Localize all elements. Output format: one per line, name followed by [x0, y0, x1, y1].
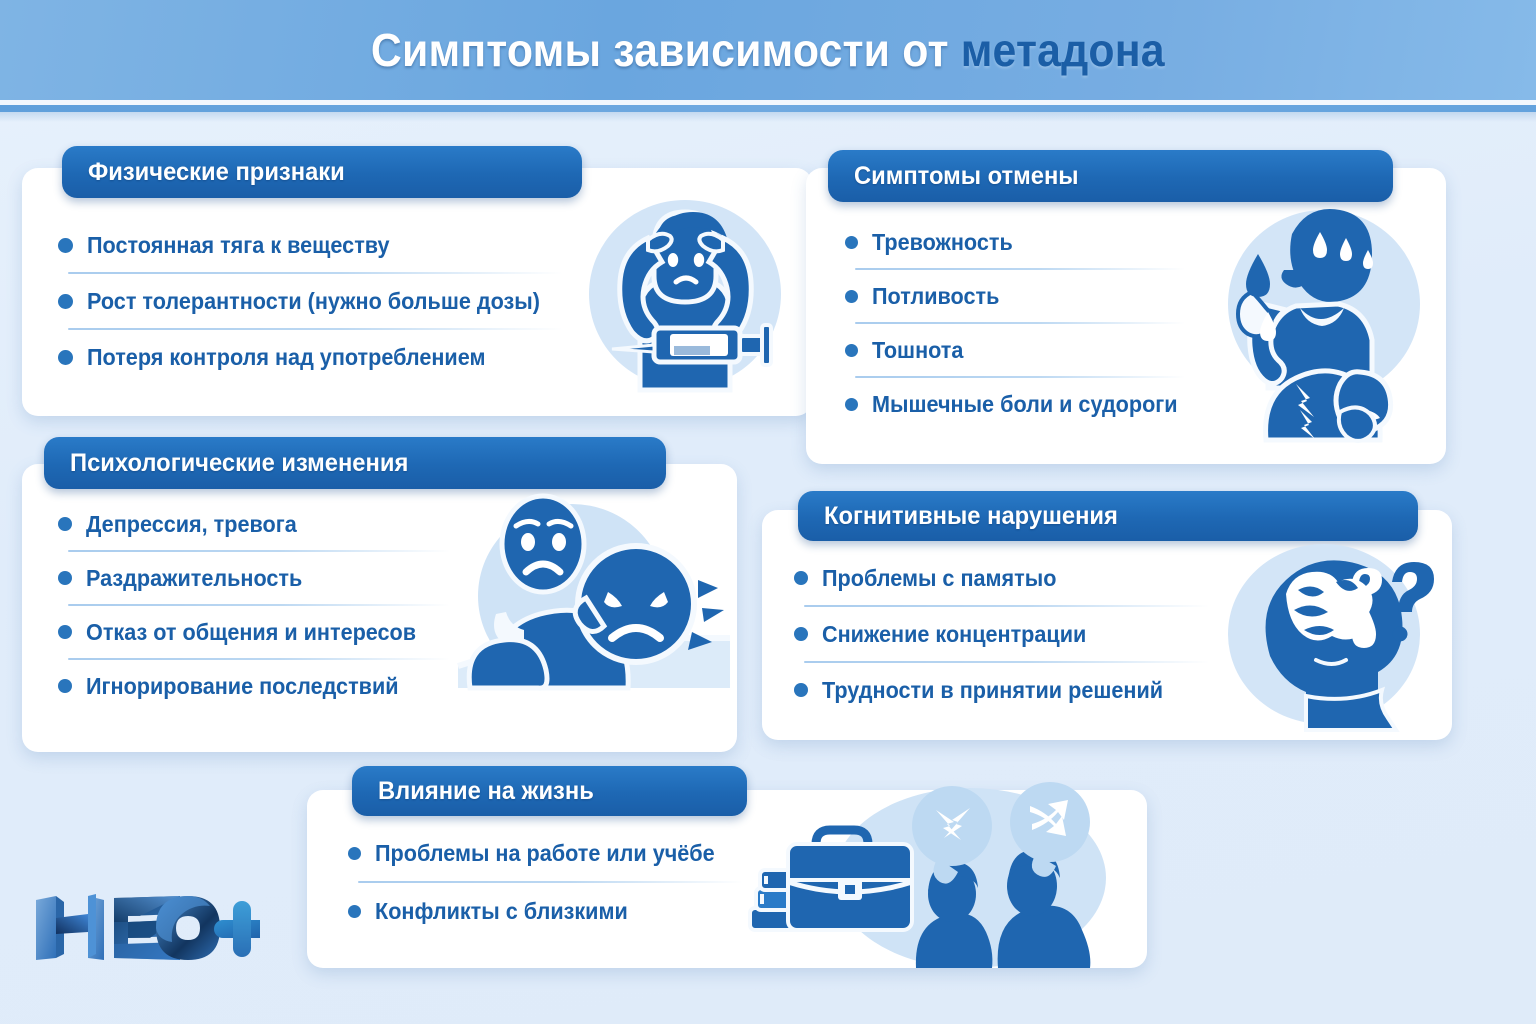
list-divider: [358, 881, 743, 883]
card-withdrawal-symptoms-badge: Симптомы отмены: [828, 150, 1393, 202]
list-divider: [855, 268, 1185, 270]
list-item: Рост толерантности (нужно больше дозы): [58, 280, 568, 322]
list-item: Раздражительность: [58, 558, 458, 598]
card-withdrawal-symptoms-badge-label: Симптомы отмены: [854, 162, 1079, 191]
list-item: Игнорирование последствий: [58, 666, 458, 706]
list-item-label: Потеря контроля над употреблением: [87, 344, 485, 371]
list-item-label: Потливость: [872, 283, 999, 310]
bullet-icon: [845, 398, 858, 411]
bullet-icon: [58, 294, 73, 309]
header-dropshadow: [0, 112, 1536, 122]
list-item: Проблемы на работе или учёбе: [348, 833, 748, 873]
list-item-label: Трудности в принятии решений: [822, 677, 1163, 704]
card-physical-signs-badge-label: Физические признаки: [88, 158, 345, 187]
bullet-icon: [794, 571, 808, 585]
card-withdrawal-symptoms-list: Тревожность Потливость Тошнота Мышечные …: [845, 222, 1195, 424]
list-divider: [804, 605, 1209, 607]
page-title: Симптомы зависимости от метадона: [371, 23, 1165, 77]
list-divider: [68, 550, 450, 552]
list-item-label: Депрессия, тревога: [86, 511, 297, 538]
card-life-impact-badge: Влияние на жизнь: [352, 766, 747, 816]
page-title-main: Симптомы зависимости от: [371, 24, 961, 76]
list-item-label: Конфликты с близкими: [375, 898, 628, 925]
bullet-icon: [58, 238, 73, 253]
card-psychological-changes-list: Депрессия, тревога Раздражительность Отк…: [58, 504, 458, 706]
page-title-accent: метадона: [961, 24, 1165, 76]
list-item-label: Проблемы с памятыо: [822, 565, 1056, 592]
list-item-label: Мышечные боли и судороги: [872, 391, 1178, 418]
bullet-icon: [58, 517, 72, 531]
list-item-label: Отказ от общения и интересов: [86, 619, 416, 646]
infographic-canvas: Симптомы зависимости от метадона Физичес…: [0, 0, 1536, 1024]
list-item: Отказ от общения и интересов: [58, 612, 458, 652]
person-sweating-cramps-icon: [1200, 196, 1435, 446]
list-divider: [68, 272, 563, 274]
card-cognitive-impairment-badge-label: Когнитивные нарушения: [824, 502, 1118, 531]
list-item-label: Раздражительность: [86, 565, 302, 592]
list-item: Тошнота: [845, 330, 1195, 370]
person-headache-syringe-icon: [578, 194, 793, 394]
list-item: Постоянная тяга к веществу: [58, 224, 568, 266]
card-life-impact-badge-label: Влияние на жизнь: [378, 777, 594, 806]
list-divider: [68, 328, 563, 330]
bullet-icon: [58, 679, 72, 693]
brand-logo: [30, 888, 260, 968]
card-physical-signs-badge: Физические признаки: [62, 146, 582, 198]
list-item: Депрессия, тревога: [58, 504, 458, 544]
bullet-icon: [845, 290, 858, 303]
header-divider-blue: [0, 105, 1536, 112]
header-banner: Симптомы зависимости от метадона: [0, 0, 1536, 100]
card-life-impact-list: Проблемы на работе или учёбе Конфликты с…: [348, 833, 748, 931]
list-item: Потеря контроля над употреблением: [58, 336, 568, 378]
briefcase-books-people-icon: [720, 782, 1120, 968]
list-divider: [855, 322, 1185, 324]
list-item: Тревожность: [845, 222, 1195, 262]
bullet-icon: [58, 350, 73, 365]
card-psychological-changes-badge: Психологические изменения: [44, 437, 666, 489]
bullet-icon: [845, 344, 858, 357]
list-item-label: Проблемы на работе или учёбе: [375, 840, 715, 867]
list-divider: [804, 661, 1209, 663]
list-item-label: Тревожность: [872, 229, 1013, 256]
head-brain-question-icon: [1212, 540, 1440, 736]
list-item-label: Снижение концентрации: [822, 621, 1086, 648]
bullet-icon: [58, 625, 72, 639]
list-item: Конфликты с близкими: [348, 891, 748, 931]
bullet-icon: [348, 847, 361, 860]
card-cognitive-impairment-badge: Когнитивные нарушения: [798, 491, 1418, 541]
bullet-icon: [58, 571, 72, 585]
bullet-icon: [794, 627, 808, 641]
list-divider: [855, 376, 1185, 378]
list-divider: [68, 658, 450, 660]
list-item-label: Игнорирование последствий: [86, 673, 399, 700]
list-item-label: Тошнота: [872, 337, 963, 364]
card-psychological-changes-badge-label: Психологические изменения: [70, 449, 408, 478]
sad-angry-faces-icon: [440, 488, 730, 708]
list-item: Мышечные боли и судороги: [845, 384, 1195, 424]
list-item: Трудности в принятии решений: [794, 670, 1214, 710]
bullet-icon: [845, 236, 858, 249]
bullet-icon: [794, 683, 808, 697]
list-item-label: Постоянная тяга к веществу: [87, 232, 390, 259]
list-divider: [68, 604, 450, 606]
list-item: Проблемы с памятыо: [794, 558, 1214, 598]
card-physical-signs-list: Постоянная тяга к веществу Рост толерант…: [58, 224, 568, 378]
list-item: Снижение концентрации: [794, 614, 1214, 654]
list-item: Потливость: [845, 276, 1195, 316]
list-item-label: Рост толерантности (нужно больше дозы): [87, 288, 540, 315]
card-cognitive-impairment-list: Проблемы с памятыо Снижение концентрации…: [794, 558, 1214, 710]
bullet-icon: [348, 905, 361, 918]
